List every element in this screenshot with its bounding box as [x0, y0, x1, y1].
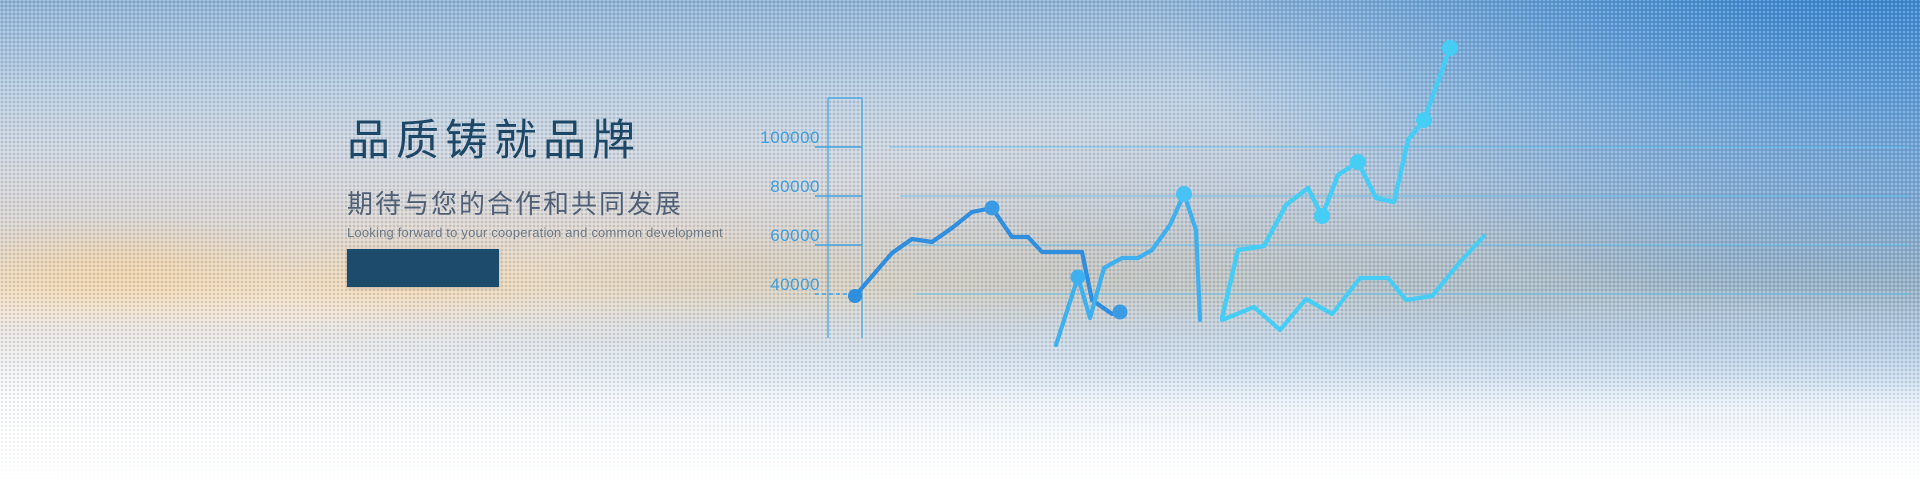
series-3-marker: [1350, 154, 1366, 170]
series-4-line: [1222, 236, 1484, 330]
line-chart: 100000 80000 60000 40000: [760, 0, 1920, 500]
cta-button[interactable]: [347, 249, 499, 287]
series-1-line: [855, 208, 1120, 314]
y-tick-label: 80000: [770, 177, 820, 196]
series-3-marker: [1442, 40, 1458, 56]
y-tick-label: 60000: [770, 226, 820, 245]
series-2-marker: [1071, 270, 1086, 285]
series-2-line: [1056, 194, 1200, 345]
series-3-line: [1222, 48, 1450, 318]
y-tick-label: 40000: [770, 275, 820, 294]
y-axis-tick-labels: 100000 80000 60000 40000: [760, 128, 820, 294]
series-1-marker: [985, 201, 1000, 216]
hero-banner: 品质铸就品牌 期待与您的合作和共同发展 Looking forward to y…: [0, 0, 1920, 500]
series-3-marker: [1314, 208, 1330, 224]
series-3-marker: [1416, 112, 1432, 128]
line-chart-svg: 100000 80000 60000 40000: [760, 0, 1920, 500]
series-2-marker: [1176, 186, 1192, 202]
series-1-marker: [1113, 305, 1128, 320]
series-1-marker: [848, 289, 862, 303]
y-tick-label: 100000: [760, 128, 820, 147]
